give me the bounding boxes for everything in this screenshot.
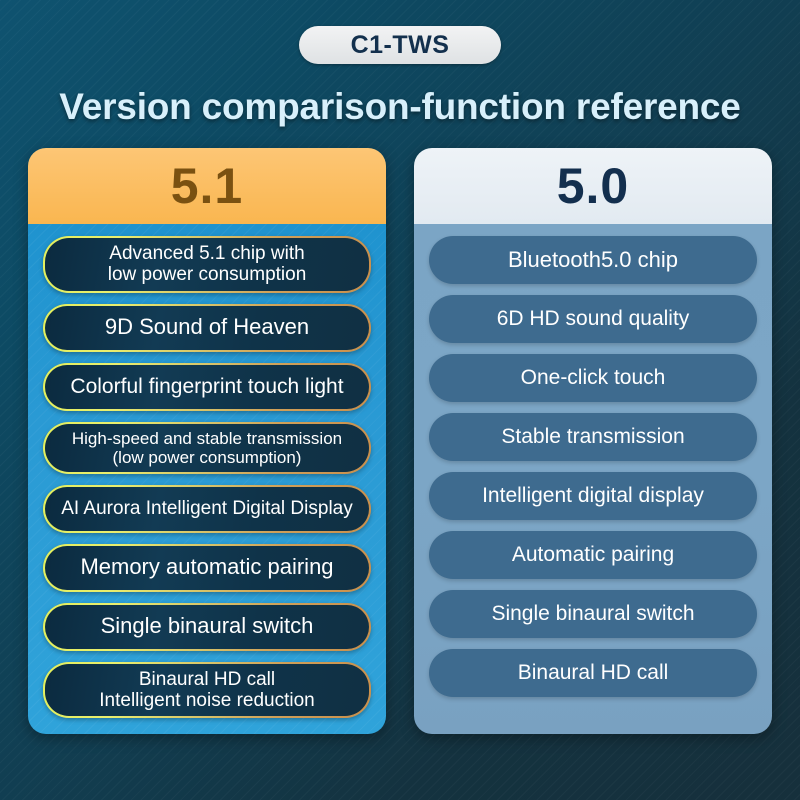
feature-label: Stable transmission [501, 425, 684, 449]
feature-label: High-speed and stable transmission (low … [72, 429, 342, 467]
version-label-50: 5.0 [414, 148, 772, 224]
feature-item: Colorful fingerprint touch light [43, 363, 371, 411]
feature-item: AI Aurora Intelligent Digital Display [43, 485, 371, 533]
version-card-51: 5.1 Advanced 5.1 chip with low power con… [28, 148, 386, 734]
feature-item: Advanced 5.1 chip with low power consump… [43, 236, 371, 293]
comparison-columns: 5.1 Advanced 5.1 chip with low power con… [0, 148, 800, 734]
feature-item: Binaural HD call Intelligent noise reduc… [43, 662, 371, 719]
feature-item: 9D Sound of Heaven [43, 304, 371, 352]
feature-item: Binaural HD call [429, 649, 757, 697]
badge-row: C1-TWS [0, 0, 800, 64]
feature-label: 9D Sound of Heaven [105, 315, 309, 340]
feature-label: Binaural HD call Intelligent noise reduc… [99, 669, 314, 712]
feature-label: Automatic pairing [512, 543, 674, 567]
feature-label: Binaural HD call [518, 661, 669, 685]
feature-item: Intelligent digital display [429, 472, 757, 520]
feature-item: Automatic pairing [429, 531, 757, 579]
feature-label: Memory automatic pairing [80, 555, 333, 580]
feature-label: Single binaural switch [101, 614, 314, 639]
feature-label: AI Aurora Intelligent Digital Display [61, 498, 352, 519]
feature-label: Bluetooth5.0 chip [508, 247, 678, 272]
product-model-badge: C1-TWS [299, 26, 501, 64]
feature-list-51: Advanced 5.1 chip with low power consump… [28, 224, 386, 734]
feature-label: Advanced 5.1 chip with low power consump… [108, 243, 307, 286]
feature-label: Intelligent digital display [482, 484, 704, 508]
feature-item: Memory automatic pairing [43, 544, 371, 592]
feature-item: Single binaural switch [43, 603, 371, 651]
feature-item: One-click touch [429, 354, 757, 402]
feature-label: Single binaural switch [491, 602, 694, 626]
feature-item: High-speed and stable transmission (low … [43, 422, 371, 474]
feature-item: 6D HD sound quality [429, 295, 757, 343]
version-label-51: 5.1 [28, 148, 386, 224]
feature-item: Single binaural switch [429, 590, 757, 638]
comparison-infographic: C1-TWS Version comparison-function refer… [0, 0, 800, 800]
feature-label: Colorful fingerprint touch light [70, 375, 343, 399]
page-title: Version comparison-function reference [0, 86, 800, 128]
feature-label: 6D HD sound quality [497, 307, 690, 331]
feature-list-50: Bluetooth5.0 chip 6D HD sound quality On… [414, 224, 772, 734]
feature-label: One-click touch [521, 366, 666, 390]
feature-item: Stable transmission [429, 413, 757, 461]
version-card-50: 5.0 Bluetooth5.0 chip 6D HD sound qualit… [414, 148, 772, 734]
feature-item: Bluetooth5.0 chip [429, 236, 757, 284]
